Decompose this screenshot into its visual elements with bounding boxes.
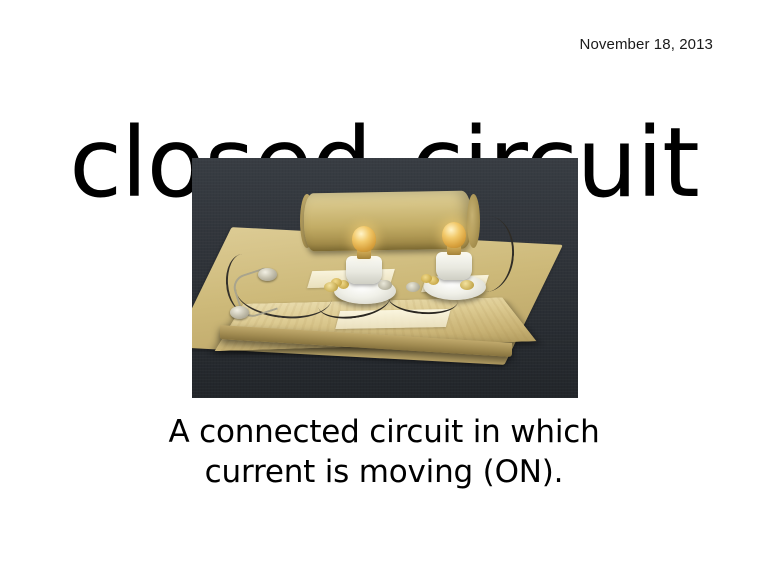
caption-line-2: current is moving (ON). [0, 452, 768, 492]
metal-brad [258, 268, 277, 281]
bulb-glass-glowing [352, 226, 376, 252]
metal-brad [378, 280, 392, 290]
metal-brad [460, 280, 474, 290]
caption: A connected circuit in which current is … [0, 412, 768, 492]
date-stamp: November 18, 2013 [580, 36, 713, 54]
metal-brad [406, 282, 420, 292]
bulb-glass-glowing [442, 222, 466, 248]
metal-brad [230, 306, 249, 319]
slide: November 18, 2013 closed circuit [0, 0, 768, 576]
bulb-ceramic-socket [346, 256, 382, 284]
circuit-photo [192, 158, 578, 398]
bulb-ceramic-socket [436, 252, 472, 280]
bulb-terminal-screw [421, 274, 432, 283]
metal-brad [324, 282, 338, 292]
caption-line-1: A connected circuit in which [0, 412, 768, 452]
